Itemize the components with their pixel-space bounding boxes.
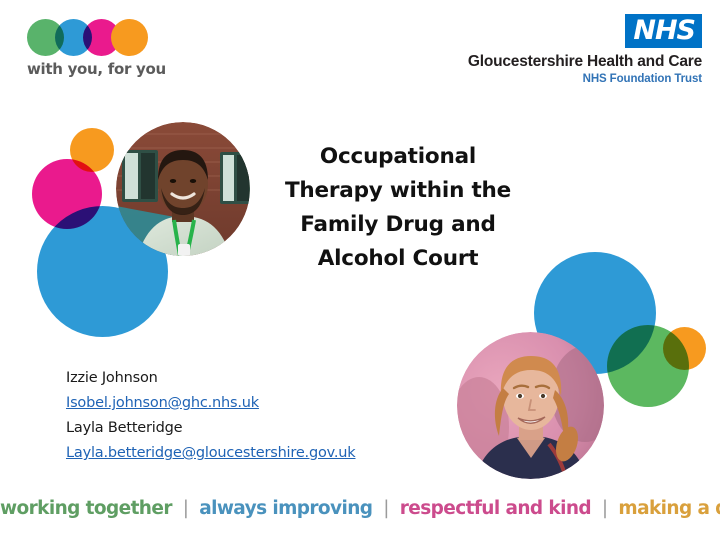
title-line: Family Drug and bbox=[262, 208, 534, 242]
footer-value-always-improving: always improving bbox=[199, 498, 372, 519]
contact-details: Izzie Johnson Isobel.johnson@ghc.nhs.uk … bbox=[66, 366, 356, 466]
nhs-trust-logo: NHS Gloucestershire Health and Care NHS … bbox=[372, 14, 702, 85]
footer-value-making-a-difference: making a difference bbox=[618, 498, 720, 519]
contact-email-link[interactable]: Layla.betteridge@gloucestershire.gov.uk bbox=[66, 441, 356, 466]
title-line: Alcohol Court bbox=[262, 242, 534, 276]
logo-tagline: with you, for you bbox=[27, 60, 166, 78]
footer-separator: | bbox=[378, 498, 394, 519]
photo-woman bbox=[457, 332, 604, 479]
nhs-trust-name: Gloucestershire Health and Care bbox=[372, 53, 702, 71]
footer-values-strip: working together | always improving | re… bbox=[0, 498, 720, 519]
footer-value-respectful-and-kind: respectful and kind bbox=[400, 498, 591, 519]
title-line: Occupational bbox=[262, 140, 534, 174]
contact-name: Izzie Johnson bbox=[66, 366, 356, 391]
nhs-logo-mark: NHS bbox=[625, 14, 702, 48]
page-title: Occupational Therapy within the Family D… bbox=[262, 140, 534, 276]
contact-name: Layla Betteridge bbox=[66, 416, 356, 441]
logo-circle-orange-icon bbox=[111, 19, 148, 56]
footer-separator: | bbox=[178, 498, 194, 519]
logo-circles bbox=[24, 16, 174, 58]
footer-separator: | bbox=[597, 498, 613, 519]
contact-email-link[interactable]: Isobel.johnson@ghc.nhs.uk bbox=[66, 391, 356, 416]
nhs-foundation-trust-label: NHS Foundation Trust bbox=[372, 73, 702, 85]
presentation-slide: with you, for you NHS Gloucestershire He… bbox=[0, 0, 720, 540]
photo-man bbox=[116, 122, 250, 256]
decor-blob-right-orange bbox=[663, 327, 706, 370]
footer-value-working-together: working together bbox=[0, 498, 172, 519]
with-you-for-you-logo: with you, for you bbox=[24, 16, 174, 88]
title-line: Therapy within the bbox=[262, 174, 534, 208]
